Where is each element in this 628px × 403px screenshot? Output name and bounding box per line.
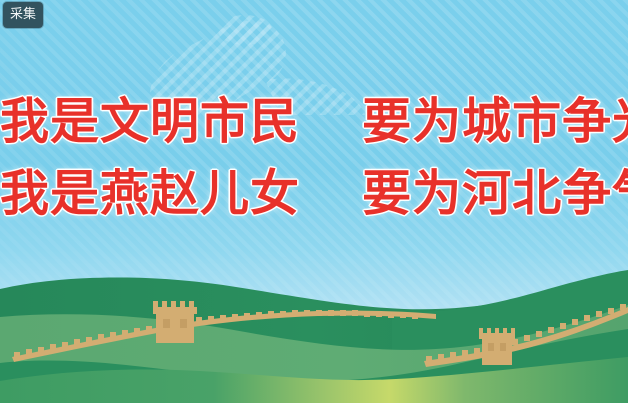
slogan-line-1: 我是文明市民 要为城市争光 [0, 86, 628, 158]
banner-image: 我是文明市民 要为城市争光 我是燕赵儿女 要为河北争气 采集 [0, 0, 628, 403]
capture-button[interactable]: 采集 [3, 2, 43, 28]
landscape-illustration [0, 253, 628, 403]
slogan-line-2: 我是燕赵儿女 要为河北争气 [0, 158, 628, 230]
slogan-line-1-left: 我是文明市民 [0, 86, 300, 158]
slogan-line-2-left: 我是燕赵儿女 [0, 158, 300, 230]
slogan-line-1-right: 要为城市争光 [362, 86, 628, 158]
watchtower-left [153, 301, 197, 343]
watchtower-right [479, 328, 515, 365]
slogan-headline: 我是文明市民 要为城市争光 我是燕赵儿女 要为河北争气 [0, 86, 628, 230]
slogan-line-2-right: 要为河北争气 [362, 158, 628, 230]
